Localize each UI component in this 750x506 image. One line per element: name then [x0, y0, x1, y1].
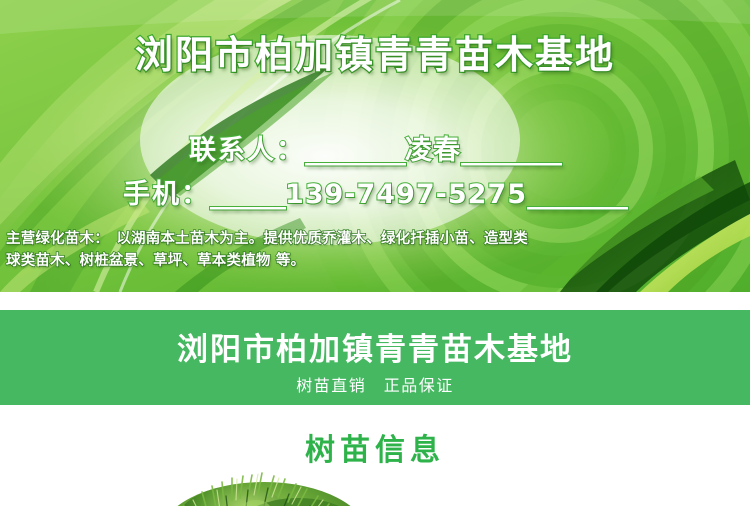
page-title: 浏阳市柏加镇青青苗木基地 — [0, 24, 750, 79]
contact-person-label: 联系人： — [189, 135, 305, 166]
contact-rule-right: ________ — [461, 135, 561, 166]
contact-phone-line: 手机：______139-7497-5275________ — [0, 172, 750, 211]
contact-rule-left: ________ — [305, 135, 405, 166]
shop-name-title: 浏阳市柏加镇青青苗木基地 — [0, 324, 750, 369]
shop-slogan: 树苗直销 正品保证 — [0, 372, 750, 396]
business-description: 主营绿化苗木： 以湖南本土苗木为主。提供优质乔灌木、绿化扦插小苗、造型类 球类苗… — [6, 228, 744, 273]
shop-name-band: 浏阳市柏加镇青青苗木基地 树苗直销 正品保证 — [0, 310, 750, 405]
phone-rule-left: ______ — [210, 179, 285, 210]
contact-person-value: 凌春 — [405, 135, 461, 166]
business-description-line-1: 主营绿化苗木： 以湖南本土苗木为主。提供优质乔灌木、绿化扦插小苗、造型类 — [6, 228, 744, 250]
seedling-info-section: 树苗信息 — [0, 405, 750, 506]
hero-text-layer: 浏阳市柏加镇青青苗木基地 联系人：________凌春________ 手机：_… — [0, 0, 750, 292]
promo-page: 浏阳市柏加镇青青苗木基地 联系人：________凌春________ 手机：_… — [0, 0, 750, 506]
hero-banner: 浏阳市柏加镇青青苗木基地 联系人：________凌春________ 手机：_… — [0, 0, 750, 292]
business-description-line-2: 球类苗木、树桩盆景、草坪、草本类植物 等。 — [6, 250, 744, 272]
phone-label: 手机： — [123, 179, 210, 210]
contact-person-line: 联系人：________凌春________ — [0, 128, 750, 167]
phone-number-value: 139-7497-5275 — [285, 179, 527, 210]
phone-rule-right: ________ — [527, 179, 627, 210]
section-heading-seedling-info: 树苗信息 — [0, 425, 750, 469]
